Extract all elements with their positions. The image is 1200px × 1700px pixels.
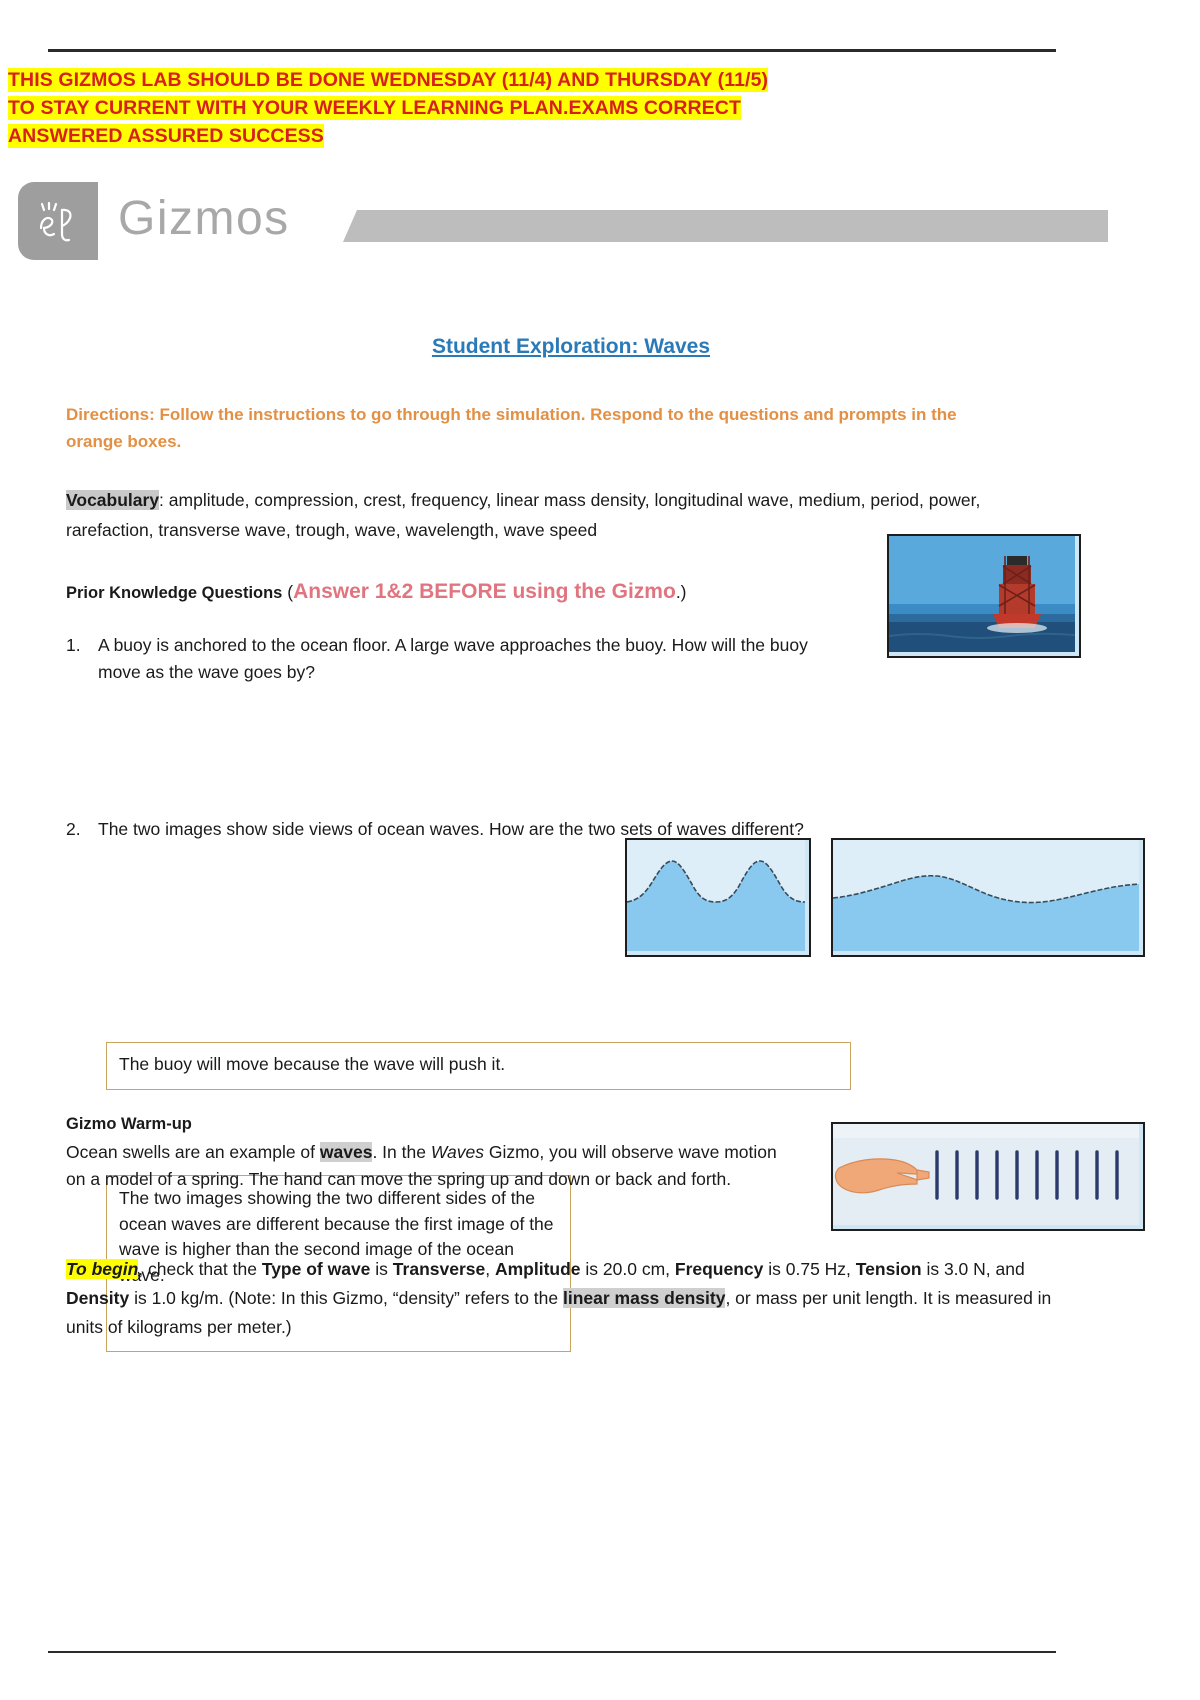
question-2-number: 2. [66, 816, 98, 843]
to-begin-seg4: is 20.0 cm, [581, 1259, 675, 1279]
gizmos-header: Gizmos [18, 182, 1088, 260]
answer-1-text: The buoy will move because the wave will… [119, 1052, 505, 1078]
to-begin-highlight: To begin [66, 1259, 138, 1279]
to-begin-b1: Type of wave [262, 1259, 371, 1279]
warm-up-heading: Gizmo Warm-up [66, 1112, 796, 1137]
vocabulary-label: Vocabulary [66, 490, 159, 510]
answer-box-1[interactable]: The buoy will move because the wave will… [106, 1042, 851, 1090]
announcement-banner: THIS GIZMOS LAB SHOULD BE DONE WEDNESDAY… [8, 66, 1088, 150]
gizmos-el-monogram-icon [18, 182, 98, 260]
to-begin-b6: Density [66, 1288, 129, 1308]
banner-line-3: ANSWERED ASSURED SUCCESS [8, 124, 324, 148]
to-begin-b4: Frequency [675, 1259, 764, 1279]
warm-up-highlight-word: waves [320, 1142, 373, 1162]
paren-open: ( [282, 582, 293, 602]
to-begin-seg2: is [370, 1259, 392, 1279]
document-body: Student Exploration: Waves Directions: F… [66, 330, 1076, 843]
warm-up-italic-word: Waves [431, 1142, 484, 1162]
vocabulary-terms: amplitude, compression, crest, frequency… [66, 490, 980, 540]
banner-line-1: THIS GIZMOS LAB SHOULD BE DONE WEDNESDAY… [8, 68, 768, 92]
warm-up-part1: Ocean swells are an example of [66, 1142, 320, 1162]
to-begin-paragraph: To begin, check that the Type of wave is… [66, 1255, 1076, 1342]
warm-up-paragraph: Ocean swells are an example of waves. In… [66, 1139, 796, 1193]
to-begin-b5: Tension [856, 1259, 922, 1279]
directions-text: Directions: Follow the instructions to g… [66, 401, 1006, 455]
page-title: Student Exploration: Waves [66, 330, 1076, 359]
to-begin-b2: Transverse [393, 1259, 485, 1279]
document-page: THIS GIZMOS LAB SHOULD BE DONE WEDNESDAY… [0, 0, 1200, 1700]
to-begin-seg1: , check that the [138, 1259, 262, 1279]
buoy-photo [887, 534, 1081, 658]
warm-up-part2: . In the [372, 1142, 430, 1162]
hand-and-spring-gizmo [831, 1122, 1145, 1231]
top-horizontal-rule [48, 49, 1056, 52]
to-begin-b3: Amplitude [495, 1259, 581, 1279]
to-begin-seg3: , [485, 1259, 495, 1279]
to-begin-seg5: is 0.75 Hz, [763, 1259, 855, 1279]
ocean-waves-low-amplitude [831, 838, 1145, 957]
question-1-number: 1. [66, 632, 98, 686]
gizmos-brand-text: Gizmos [118, 188, 290, 250]
vocabulary-separator: : [159, 490, 169, 510]
to-begin-seg7: is 1.0 kg/m. (Note: In this Gizmo, “dens… [129, 1288, 563, 1308]
to-begin-gray-term: linear mass density [563, 1288, 725, 1308]
header-gray-bar [343, 210, 1108, 242]
question-1-text: A buoy is anchored to the ocean floor. A… [98, 632, 808, 686]
ocean-waves-tall-amplitude [625, 838, 811, 957]
to-begin-seg6: is 3.0 N, and [922, 1259, 1025, 1279]
banner-line-2: TO STAY CURRENT WITH YOUR WEEKLY LEARNIN… [8, 96, 741, 120]
gizmo-warm-up-section: Gizmo Warm-up Ocean swells are an exampl… [66, 1112, 796, 1193]
bottom-horizontal-rule [48, 1651, 1056, 1653]
prior-knowledge-label: Prior Knowledge Questions [66, 584, 282, 602]
prior-knowledge-red-note: Answer 1&2 BEFORE using the Gizmo [293, 580, 676, 603]
paren-close: .) [676, 582, 687, 602]
